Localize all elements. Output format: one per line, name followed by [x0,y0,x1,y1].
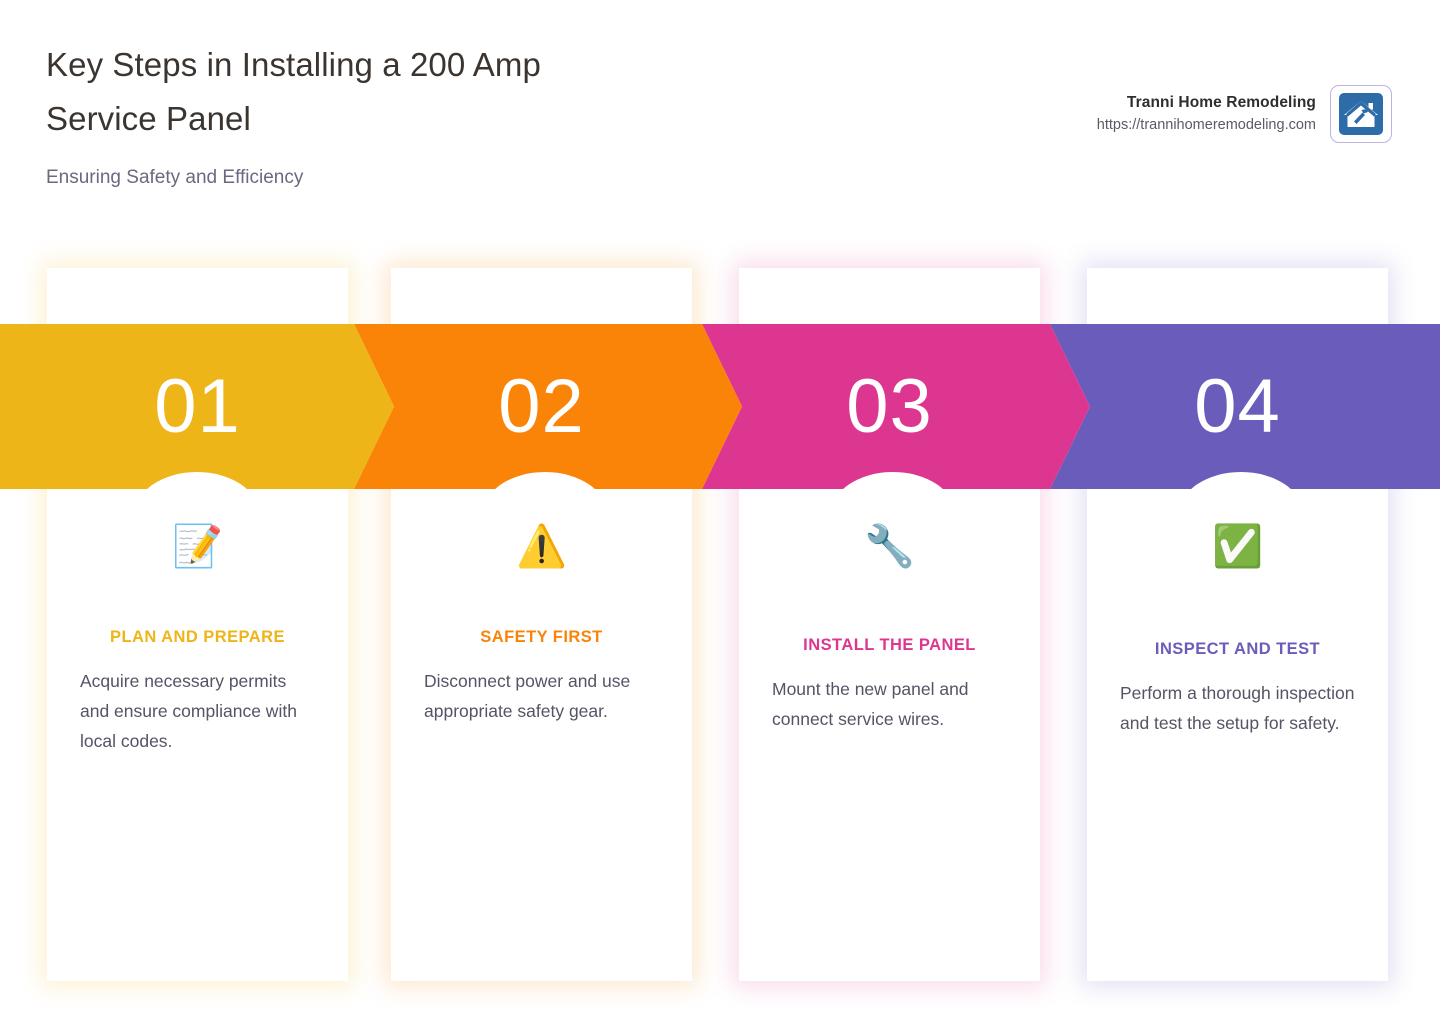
warning-triangle-icon: ⚠️ [421,518,662,574]
check-mark-button-icon: ✅ [1117,518,1358,574]
brand-name: Tranni Home Remodeling [1097,92,1316,114]
brand-text: Tranni Home Remodeling https://trannihom… [1097,92,1316,136]
brand-url[interactable]: https://trannihomeremodeling.com [1097,114,1316,136]
step-description: Acquire necessary permits and ensure com… [77,666,318,756]
step-card-content: ✅ INSPECT AND TEST Perform a thorough in… [1087,518,1388,738]
page-title: Key Steps in Installing a 200 Amp Servic… [46,38,566,146]
wrench-icon: 🔧 [769,518,1010,574]
step-card-content: 🔧 INSTALL THE PANEL Mount the new panel … [739,518,1040,734]
step-number-1: 01 [47,324,348,489]
step-description: Perform a thorough inspection and test t… [1117,678,1358,738]
step-description: Disconnect power and use appropriate saf… [421,666,662,726]
step-title: PLAN AND PREPARE [77,626,318,648]
step-title: INSPECT AND TEST [1117,638,1358,660]
house-with-hammer-icon [1338,92,1384,136]
step-number-2: 02 [391,324,692,489]
step-number-4: 04 [1087,324,1388,489]
step-title: SAFETY FIRST [421,626,662,648]
brand-block: Tranni Home Remodeling https://trannihom… [1097,85,1392,143]
memo-icon: 📝 [77,518,318,574]
step-card-content: 📝 PLAN AND PREPARE Acquire necessary per… [47,518,348,756]
brand-logo[interactable] [1330,85,1392,143]
page-header: Key Steps in Installing a 200 Amp Servic… [0,0,1440,250]
step-description: Mount the new panel and connect service … [769,674,1010,734]
page-subtitle: Ensuring Safety and Efficiency [46,164,746,192]
step-number-3: 03 [739,324,1040,489]
step-title: INSTALL THE PANEL [769,634,1010,656]
title-block: Key Steps in Installing a 200 Amp Servic… [46,38,746,192]
step-card-content: ⚠️ SAFETY FIRST Disconnect power and use… [391,518,692,726]
